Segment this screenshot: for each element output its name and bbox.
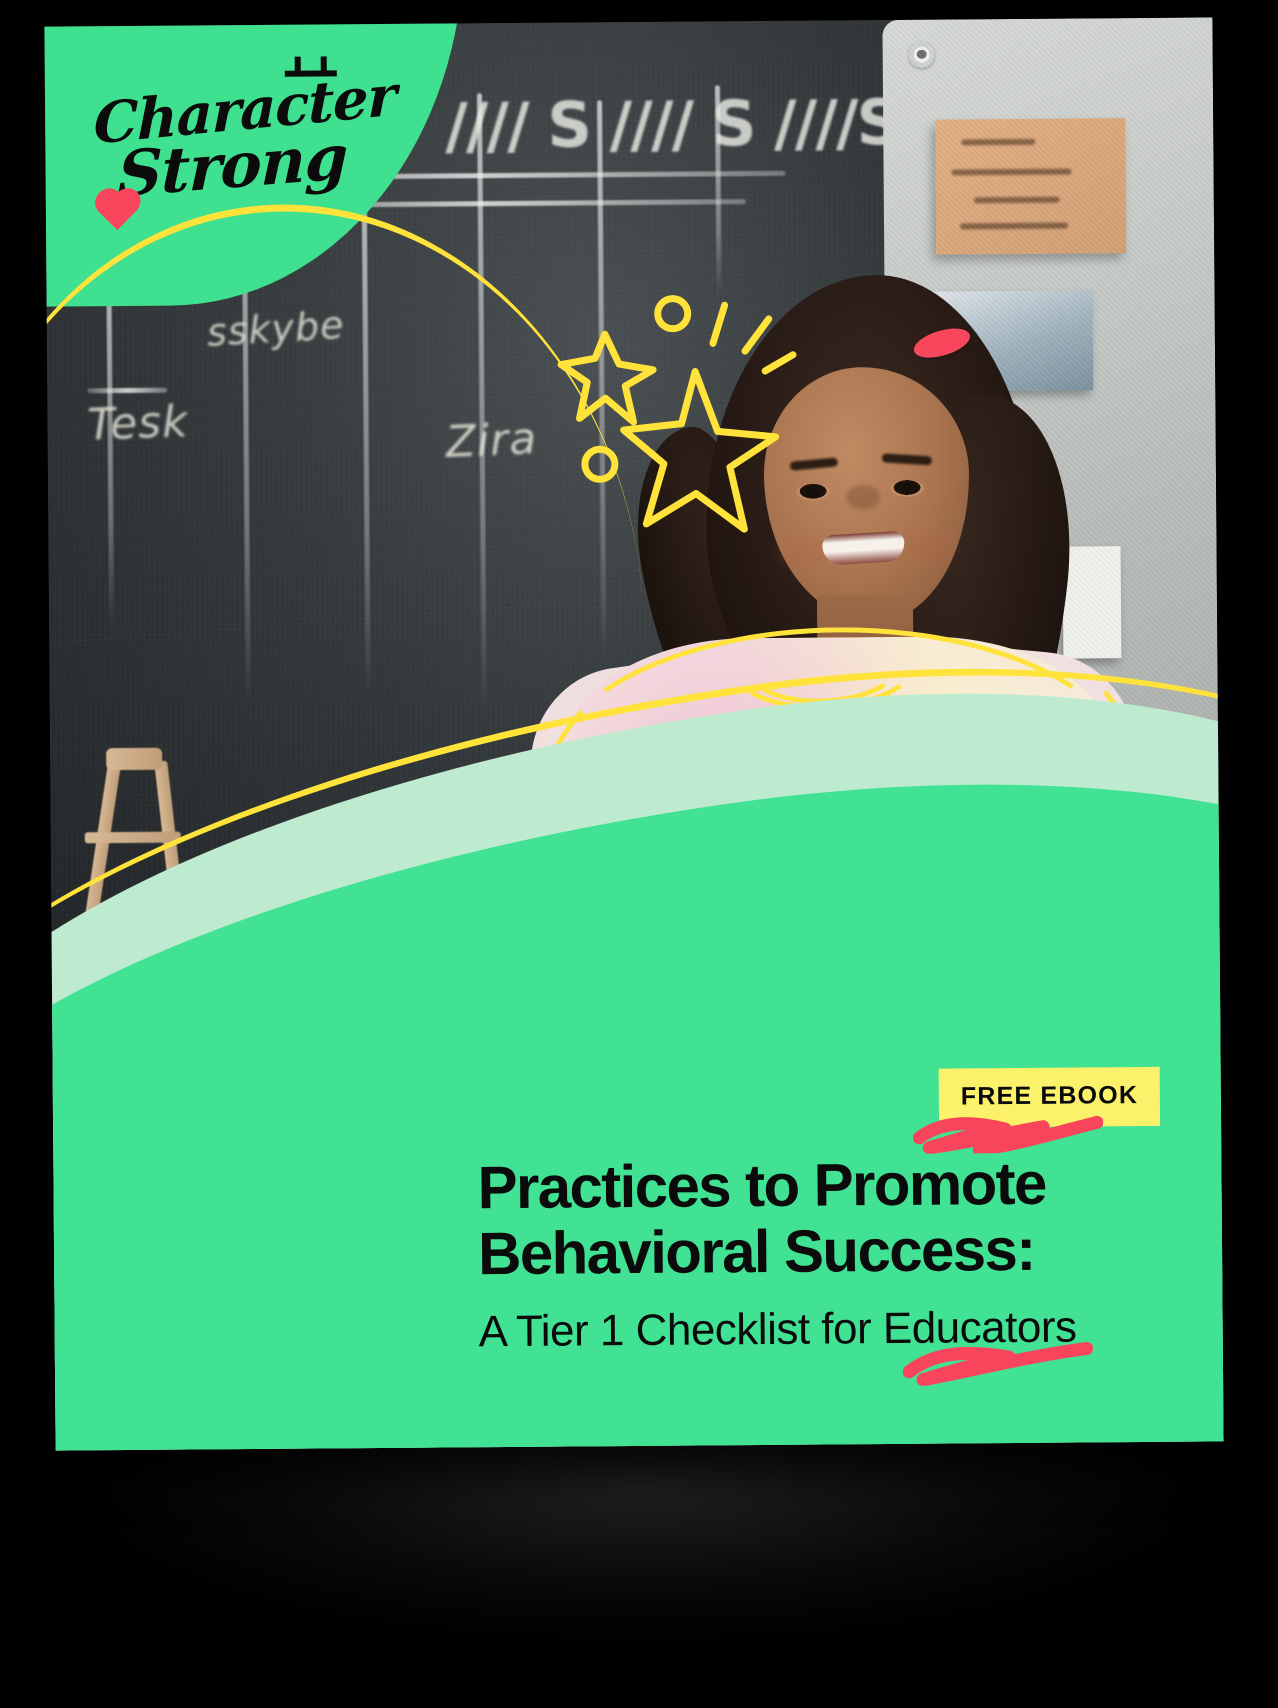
quote-mark-icon	[285, 70, 337, 79]
easel-top	[106, 748, 162, 770]
eye-left	[796, 483, 830, 500]
pinned-note-card	[935, 118, 1126, 254]
title-line-1: Practices to Promote	[477, 1150, 1137, 1221]
grommet-icon	[909, 42, 935, 68]
nose	[846, 485, 880, 509]
badge-scribble-underline	[913, 1106, 1103, 1153]
chalkboard-tally-marks: //// S //// S ////S	[445, 86, 900, 163]
easel-crossbar	[85, 832, 181, 844]
heart-icon	[99, 192, 137, 230]
page-root: //// S //// S ////S sskybe Tesk Zira	[0, 0, 1278, 1708]
eye-right	[890, 480, 924, 497]
ebook-cover-card[interactable]: //// S //// S ////S sskybe Tesk Zira	[44, 17, 1223, 1450]
title-line-2: Behavioral Success:	[478, 1216, 1138, 1287]
cover-text-block: Practices to Promote Behavioral Success:…	[477, 1150, 1139, 1357]
characterstrong-logo[interactable]: Character Strong	[85, 54, 386, 246]
subtitle-scribble-underline	[903, 1338, 1093, 1385]
